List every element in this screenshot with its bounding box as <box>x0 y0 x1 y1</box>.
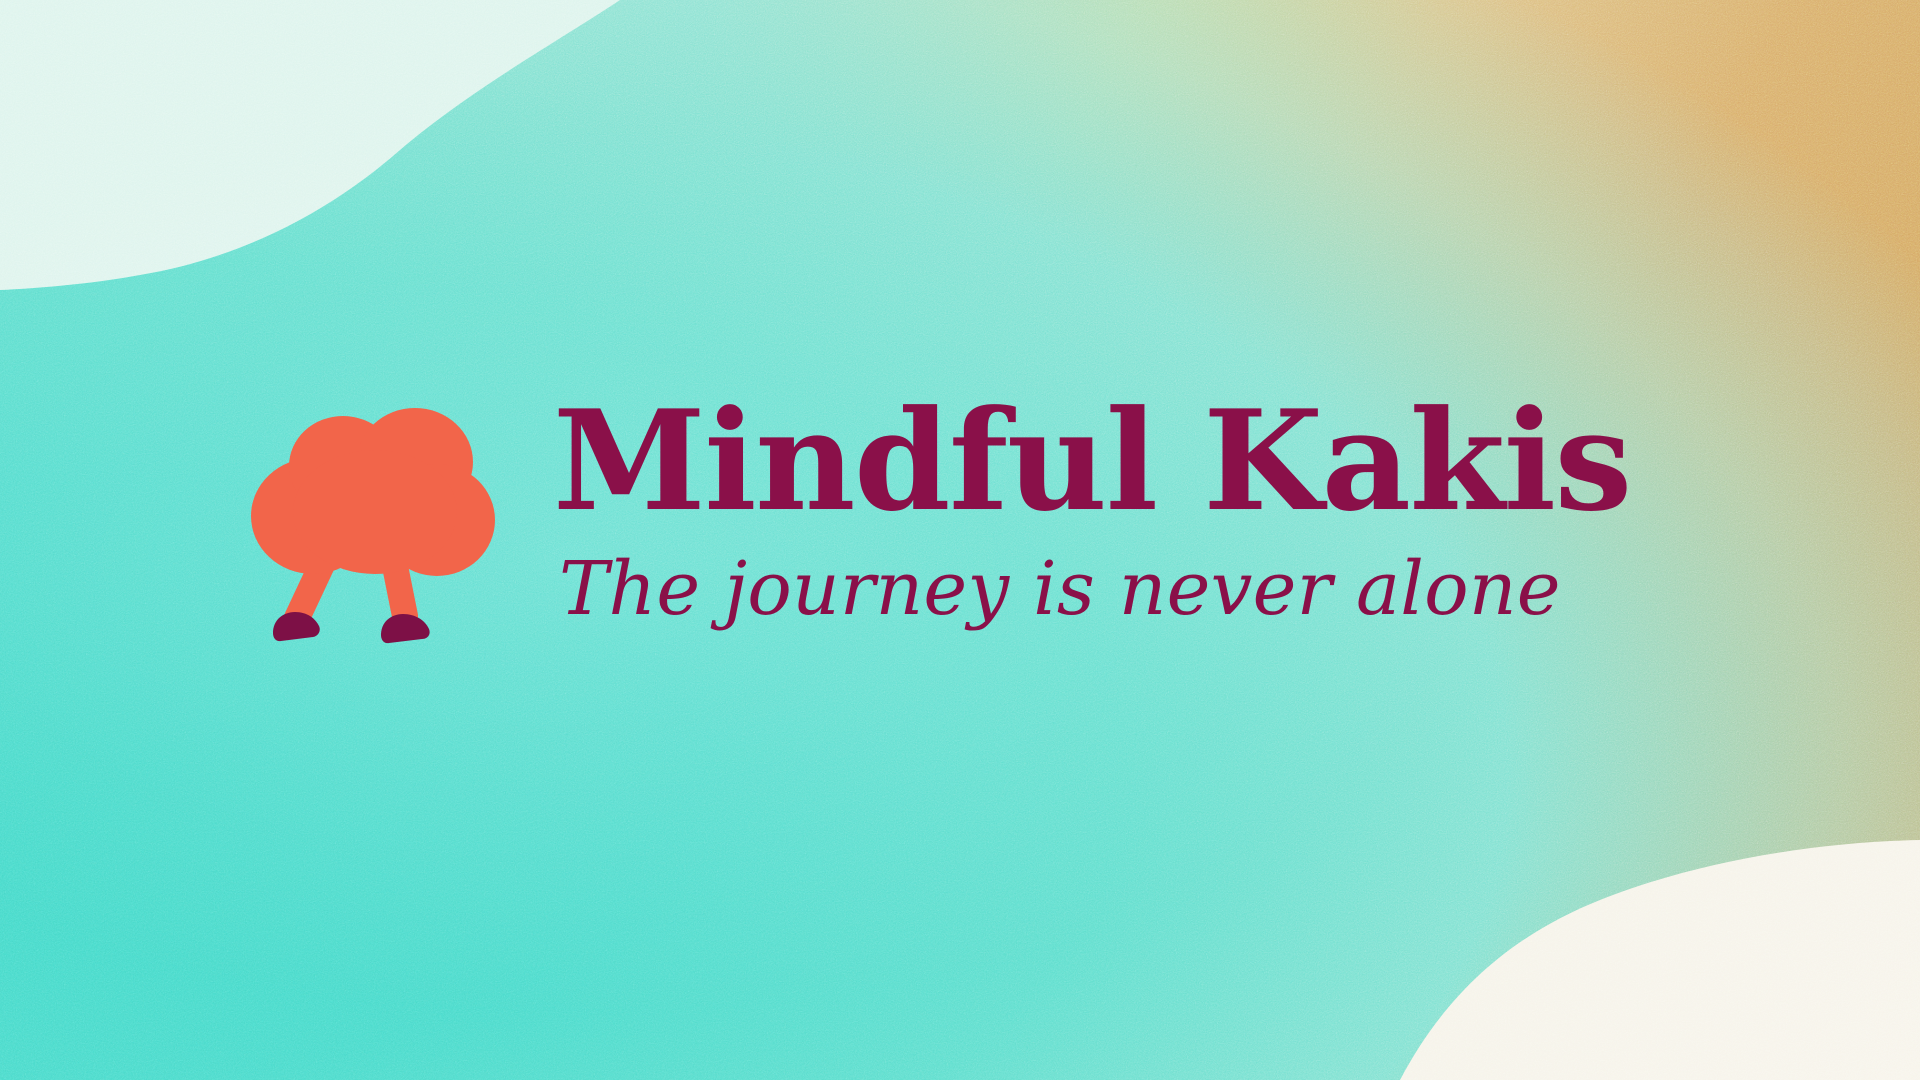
brand-tagline: The journey is never alone <box>559 552 1733 626</box>
brand-text-block: Mindful Kakis The journey is never alone <box>553 392 1733 626</box>
logo-banner: Mindful Kakis The journey is never alone <box>0 0 1920 1080</box>
brand-name: Mindful Kakis <box>553 392 1733 530</box>
logo-lockup: Mindful Kakis The journey is never alone <box>235 392 1735 692</box>
cloud-mascot-icon <box>235 404 520 656</box>
